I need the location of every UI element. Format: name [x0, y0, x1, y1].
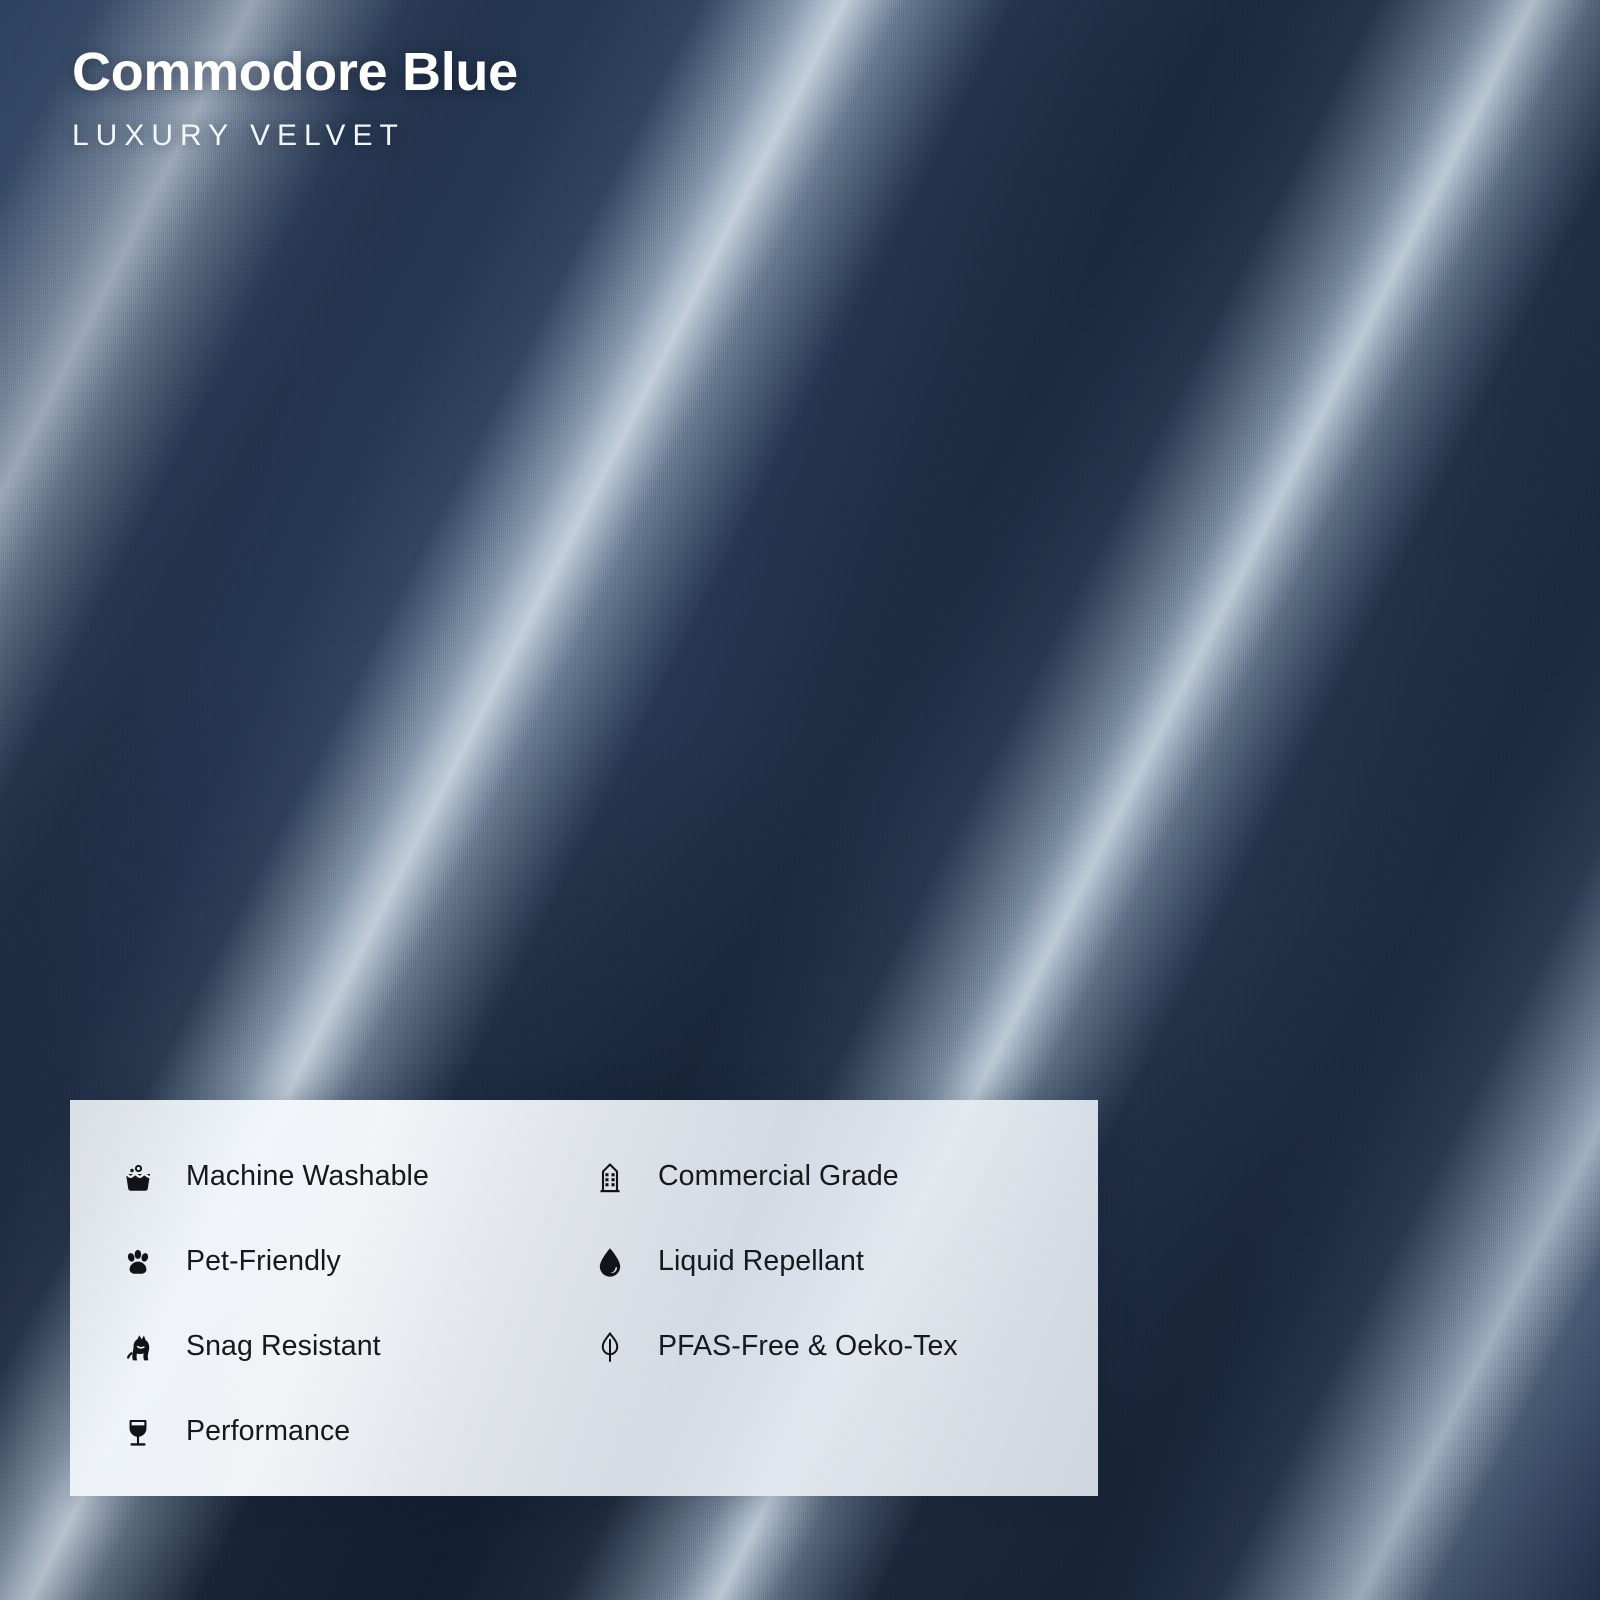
feature-pfas-free-oeko-tex: PFAS-Free & Oeko-Tex — [588, 1304, 1098, 1389]
water-drop-icon — [588, 1240, 632, 1284]
product-header: Commodore Blue LUXURY VELVET — [72, 44, 518, 153]
washing-tub-icon — [116, 1155, 160, 1199]
feature-grid: Machine Washable Commercial Grade — [70, 1100, 1098, 1496]
feature-label: Snag Resistant — [186, 1330, 381, 1363]
building-icon — [588, 1155, 632, 1199]
leaf-icon — [588, 1325, 632, 1369]
feature-panel: Machine Washable Commercial Grade — [70, 1100, 1098, 1496]
feature-label: Pet-Friendly — [186, 1245, 341, 1278]
paw-print-icon — [116, 1240, 160, 1284]
product-swatch-image: Commodore Blue LUXURY VELVET Machine Was… — [0, 0, 1600, 1600]
feature-liquid-repellant: Liquid Repellant — [588, 1219, 1098, 1304]
feature-pet-friendly: Pet-Friendly — [116, 1219, 588, 1304]
product-collection: LUXURY VELVET — [72, 119, 518, 153]
feature-machine-washable: Machine Washable — [116, 1134, 588, 1219]
cat-icon — [116, 1325, 160, 1369]
feature-performance: Performance — [116, 1389, 588, 1474]
feature-snag-resistant: Snag Resistant — [116, 1304, 588, 1389]
feature-label: Liquid Repellant — [658, 1245, 864, 1278]
feature-label: PFAS-Free & Oeko-Tex — [658, 1330, 958, 1363]
feature-label: Machine Washable — [186, 1160, 429, 1193]
feature-commercial-grade: Commercial Grade — [588, 1134, 1098, 1219]
product-title: Commodore Blue — [72, 44, 518, 101]
feature-label: Performance — [186, 1415, 350, 1448]
wine-glass-icon — [116, 1410, 160, 1454]
feature-label: Commercial Grade — [658, 1160, 899, 1193]
